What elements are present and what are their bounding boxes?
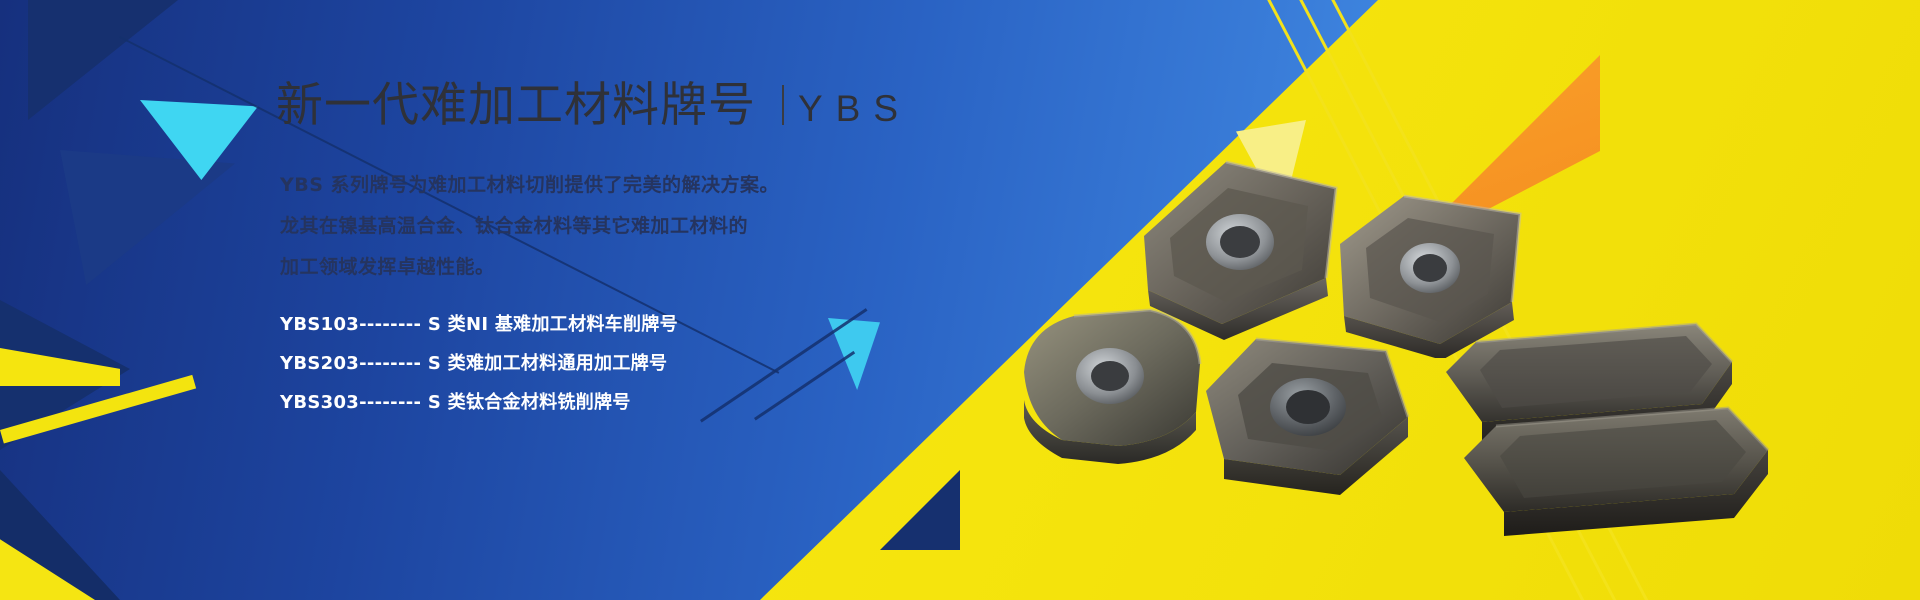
description-line-1: YBS 系列牌号为难加工材料切削提供了完美的解决方案。 xyxy=(280,165,779,206)
description-line-3: 加工领域发挥卓越性能。 xyxy=(280,247,779,288)
grade-spec-list: YBS103-------- S 类NI 基难加工材料车削牌号 YBS203--… xyxy=(280,305,678,422)
headline-main: 新一代难加工材料牌号 xyxy=(276,66,756,135)
headline-divider xyxy=(782,85,784,125)
product-insert-group xyxy=(1000,150,1800,550)
grade-spec-ybs303: YBS303-------- S 类钛合金材料铣削牌号 xyxy=(280,383,678,422)
page-title: 新一代难加工材料牌号 YBS xyxy=(276,66,911,135)
insert-facemill-square xyxy=(1190,325,1430,505)
insert-long-bar-lower xyxy=(1458,400,1778,550)
banner-text-block: 新一代难加工材料牌号 YBS YBS 系列牌号为难加工材料切削提供了完美的解决方… xyxy=(276,0,1036,600)
description-line-2: 龙其在镍基高温合金、钛合金材料等其它难加工材料的 xyxy=(280,206,779,247)
grade-spec-ybs203: YBS203-------- S 类难加工材料通用加工牌号 xyxy=(280,344,678,383)
description-paragraph: YBS 系列牌号为难加工材料切削提供了完美的解决方案。 龙其在镍基高温合金、钛合… xyxy=(280,165,779,288)
grade-spec-ybs103: YBS103-------- S 类NI 基难加工材料车削牌号 xyxy=(280,305,678,344)
promo-banner: 新一代难加工材料牌号 YBS YBS 系列牌号为难加工材料切削提供了完美的解决方… xyxy=(0,0,1920,600)
insert-round-rcmx xyxy=(1010,300,1220,470)
headline-suffix: YBS xyxy=(798,88,911,130)
